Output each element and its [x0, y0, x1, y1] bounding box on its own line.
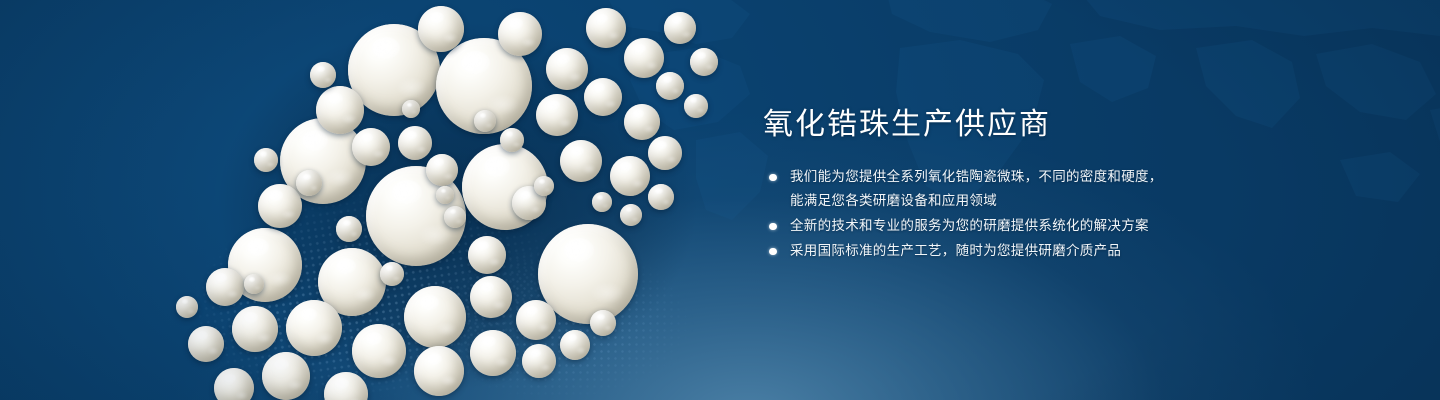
- dot-bullet-icon: [769, 223, 777, 231]
- list-item: 全新的技术和专业的服务为您的研磨提供系统化的解决方案: [763, 214, 1233, 238]
- list-item-line: 采用国际标准的生产工艺，随时为您提供研磨介质产品: [790, 239, 1233, 263]
- list-item-line: 全新的技术和专业的服务为您的研磨提供系统化的解决方案: [790, 214, 1233, 238]
- feature-list: 我们能为您提供全系列氧化锆陶瓷微珠，不同的密度和硬度， 能满足您各类研磨设备和应…: [763, 165, 1233, 263]
- list-item: 我们能为您提供全系列氧化锆陶瓷微珠，不同的密度和硬度， 能满足您各类研磨设备和应…: [763, 165, 1233, 213]
- banner-copy: 氧化锆珠生产供应商 我们能为您提供全系列氧化锆陶瓷微珠，不同的密度和硬度， 能满…: [763, 106, 1233, 264]
- list-item-line: 能满足您各类研磨设备和应用领域: [790, 189, 1233, 213]
- hero-banner: 氧化锆珠生产供应商 我们能为您提供全系列氧化锆陶瓷微珠，不同的密度和硬度， 能满…: [0, 0, 1440, 400]
- list-item: 采用国际标准的生产工艺，随时为您提供研磨介质产品: [763, 239, 1233, 263]
- list-item-line: 我们能为您提供全系列氧化锆陶瓷微珠，不同的密度和硬度，: [790, 165, 1233, 189]
- dot-bullet-icon: [769, 248, 777, 256]
- dot-bullet-icon: [769, 174, 777, 182]
- page-title: 氧化锆珠生产供应商: [763, 106, 1233, 144]
